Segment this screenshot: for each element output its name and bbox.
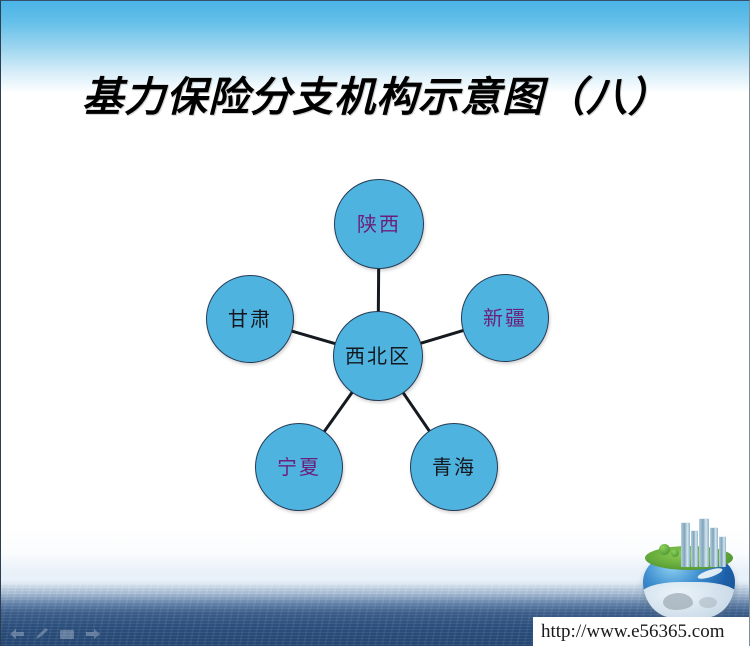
watermark-url-text: http://www.e56365.com bbox=[541, 621, 724, 643]
node-gansu-label: 甘肃 bbox=[228, 309, 272, 329]
node-qinghai-label: 青海 bbox=[432, 457, 476, 477]
menu-box-icon[interactable] bbox=[59, 628, 75, 640]
globe-landmass-secondary bbox=[699, 597, 717, 608]
building-icon bbox=[691, 530, 698, 567]
node-xinjiang-label: 新疆 bbox=[483, 308, 527, 328]
globe-city-logo bbox=[637, 518, 741, 622]
building-icon bbox=[719, 536, 726, 567]
presentation-controls bbox=[9, 628, 101, 640]
arrow-left-icon[interactable] bbox=[9, 628, 25, 640]
building-icon bbox=[710, 527, 718, 567]
node-shaanxi[interactable]: 陕西 bbox=[334, 179, 424, 269]
building-icon bbox=[681, 522, 690, 567]
tree-icon bbox=[671, 549, 679, 557]
node-center-label: 西北区 bbox=[345, 346, 411, 366]
globe-landmass bbox=[663, 593, 693, 610]
tree-icon bbox=[659, 544, 670, 555]
presentation-slide: 基力保险分支机构示意图（八） 西北区 陕西 甘肃 新疆 宁夏 青海 bbox=[0, 0, 750, 646]
building-icon bbox=[699, 518, 709, 567]
node-qinghai[interactable]: 青海 bbox=[410, 423, 498, 511]
node-center[interactable]: 西北区 bbox=[333, 311, 423, 401]
watermark-url-bar[interactable]: http://www.e56365.com bbox=[533, 617, 750, 646]
arrow-right-icon[interactable] bbox=[85, 628, 101, 640]
node-shaanxi-label: 陕西 bbox=[357, 214, 401, 234]
node-ningxia[interactable]: 宁夏 bbox=[255, 423, 343, 511]
pen-icon[interactable] bbox=[35, 628, 49, 640]
node-gansu[interactable]: 甘肃 bbox=[206, 275, 294, 363]
node-ningxia-label: 宁夏 bbox=[277, 457, 321, 477]
node-xinjiang[interactable]: 新疆 bbox=[461, 274, 549, 362]
